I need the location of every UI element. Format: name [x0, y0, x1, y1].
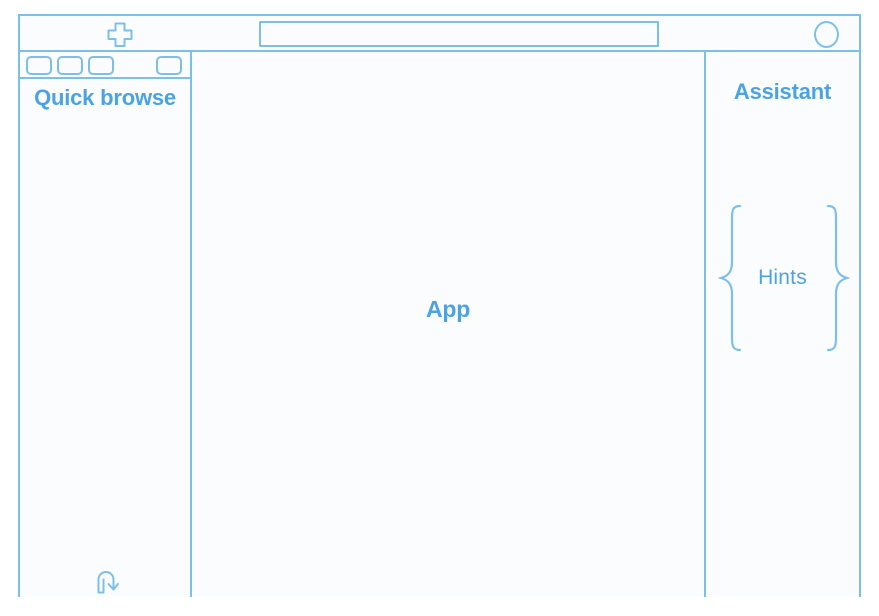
- top-bar: [20, 16, 859, 52]
- u-turn-back-icon-svg: [90, 567, 124, 597]
- avatar-circle-icon[interactable]: [814, 21, 839, 48]
- toolbar-button-4[interactable]: [156, 56, 182, 75]
- toolbar-button-2[interactable]: [57, 56, 83, 75]
- sidebar-panel: Quick browse: [20, 52, 192, 597]
- assistant-panel: Assistant Hints: [704, 52, 859, 597]
- u-turn-back-icon[interactable]: [90, 567, 124, 597]
- right-brace-icon: [824, 204, 850, 352]
- hints-block: Hints: [706, 204, 859, 352]
- toolbar-button-3[interactable]: [88, 56, 114, 75]
- app-title: App: [192, 52, 704, 597]
- assistant-title: Assistant: [706, 79, 859, 105]
- plus-icon-svg: [100, 20, 140, 48]
- toolbar-button-1[interactable]: [26, 56, 52, 75]
- quick-browse-title: Quick browse: [20, 84, 190, 112]
- app-content-pane: App: [192, 52, 704, 597]
- body-area: Quick browse App Assistant: [20, 52, 859, 597]
- plus-icon[interactable]: [100, 20, 140, 48]
- right-brace-svg: [824, 204, 850, 352]
- wireframe-window: Quick browse App Assistant: [18, 14, 861, 597]
- search-input[interactable]: [259, 21, 659, 47]
- sidebar-toolbar: [20, 52, 190, 79]
